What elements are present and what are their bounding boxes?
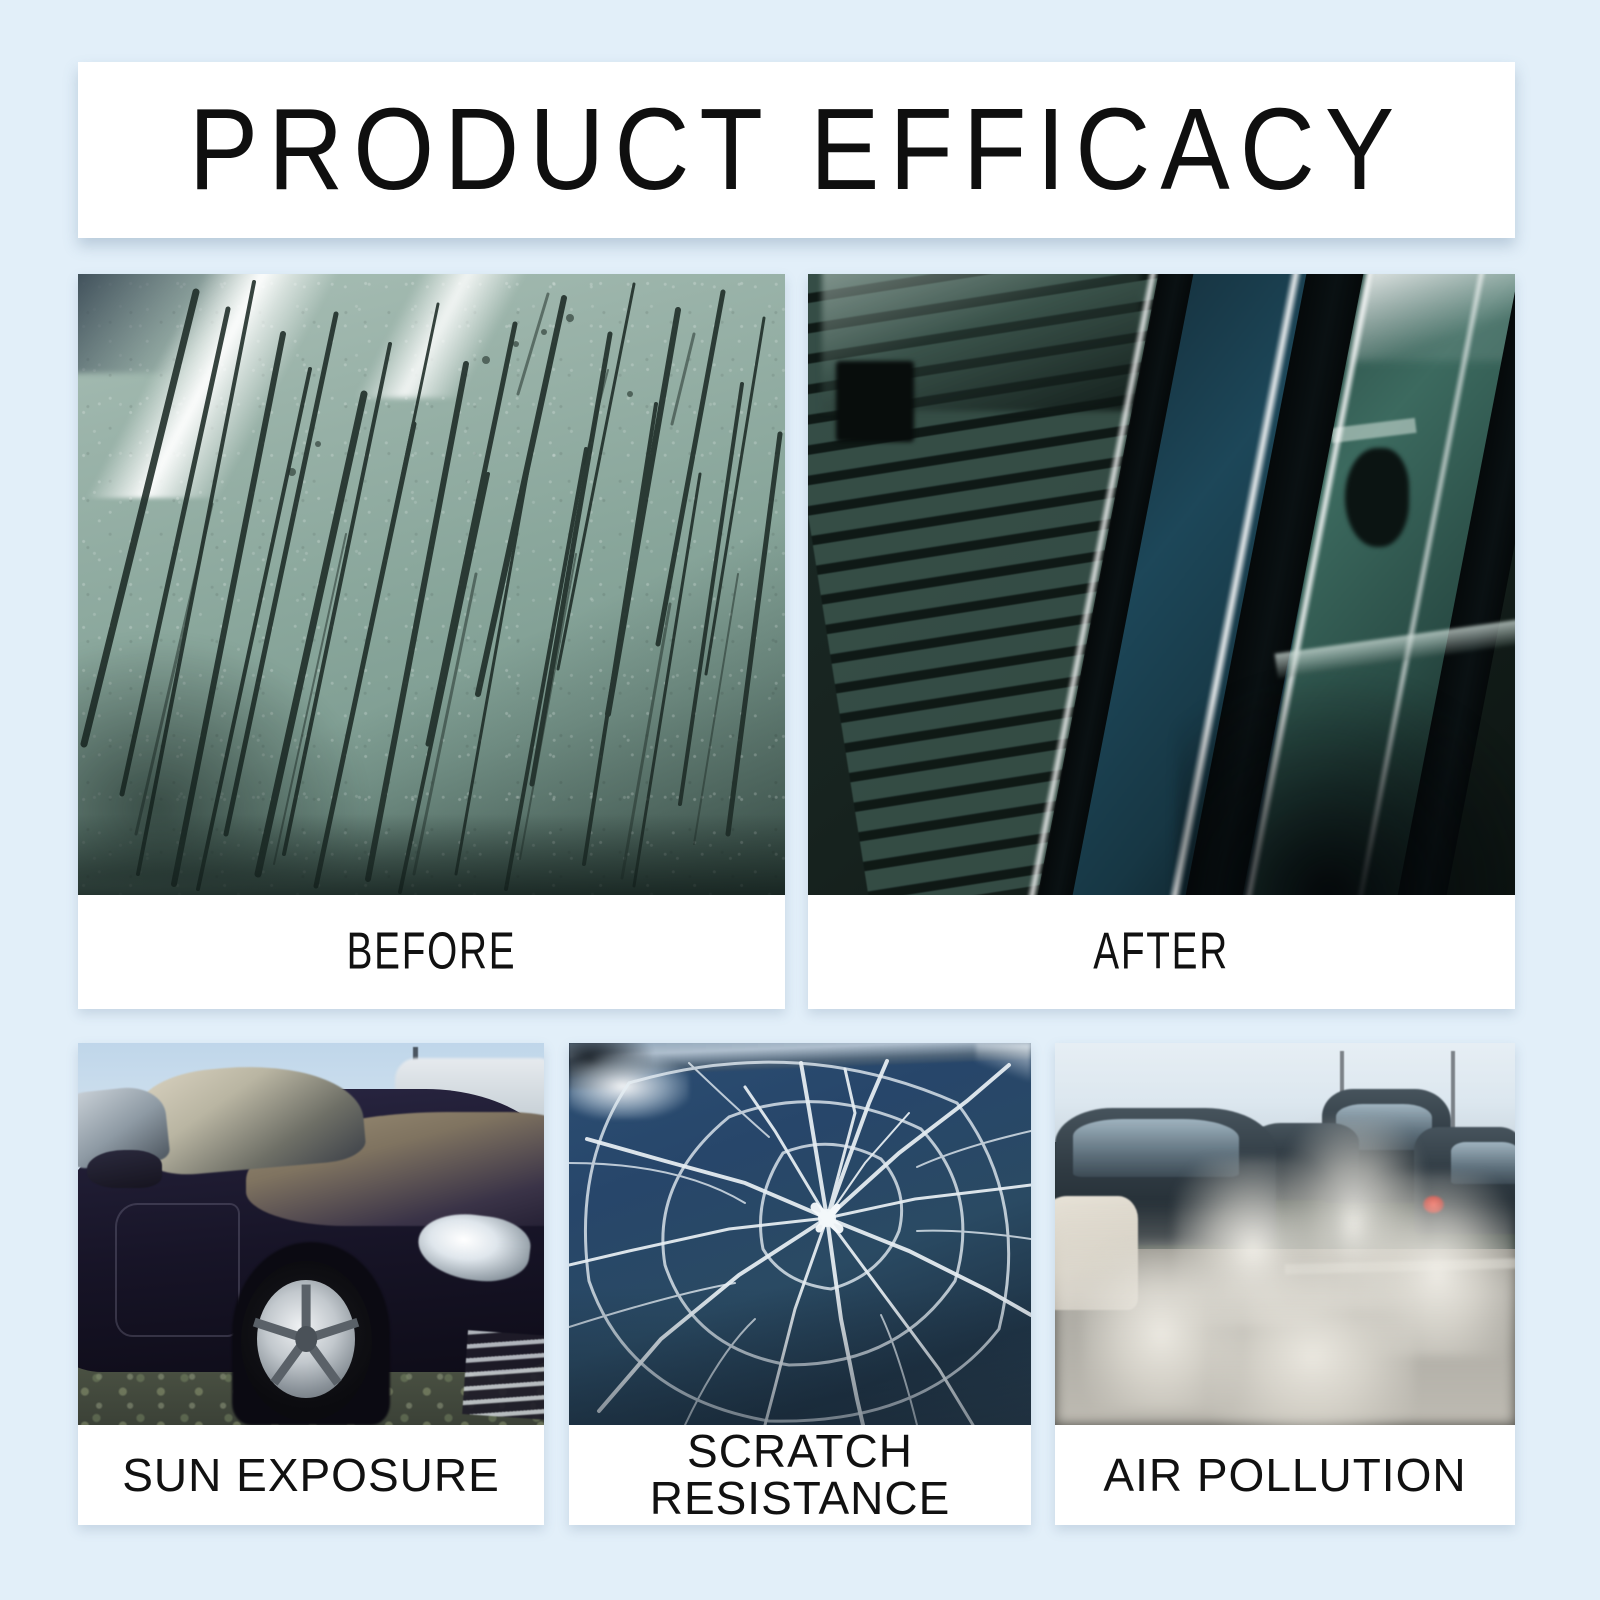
car-alloy-wheel [257,1280,355,1398]
car-front-grille [462,1331,544,1421]
page-title: PRODUCT EFFICACY [189,92,1405,208]
after-caption: AFTER [808,895,1515,1009]
infographic-canvas: PRODUCT EFFICACY [0,0,1600,1600]
scratched-windshield-photo [78,274,785,895]
cracked-windshield-photo [569,1043,1031,1425]
clean-car-window-photo [808,274,1515,895]
air-pollution-caption: AIR POLLUTION [1055,1425,1515,1525]
bottom-dark-band [78,814,785,895]
lower-dark-vignette [1176,671,1515,895]
traffic-exhaust-smoke-photo [1055,1043,1515,1425]
wheel-spoke [303,1336,342,1385]
caption-line-2: RESISTANCE [650,1472,951,1524]
lower-shade-gradient [569,1287,1031,1425]
sun-exposure-caption: SUN EXPOSURE [78,1425,544,1525]
dark-reflected-object [836,361,914,442]
dark-car-in-sunlight-photo [78,1043,544,1425]
before-caption: BEFORE [78,895,785,1009]
scratch-resistance-card: SCRATCH RESISTANCE [569,1043,1031,1525]
scratch-resistance-caption-label: SCRATCH RESISTANCE [650,1428,951,1522]
caption-line-1: SCRATCH [687,1425,913,1477]
air-pollution-caption-label: AIR POLLUTION [1103,1452,1466,1499]
before-caption-label: BEFORE [347,923,517,982]
car-side-mirror [87,1150,162,1188]
scratch-resistance-caption: SCRATCH RESISTANCE [569,1425,1031,1525]
utility-pole-right [1451,1051,1455,1135]
sun-exposure-card: SUN EXPOSURE [78,1043,544,1525]
after-caption-label: AFTER [1094,923,1230,982]
title-banner: PRODUCT EFFICACY [78,62,1515,238]
sun-exposure-caption-label: SUN EXPOSURE [122,1452,500,1499]
after-card: AFTER [808,274,1515,1009]
smoke-haze-overlay [1055,1203,1515,1425]
air-pollution-card: AIR POLLUTION [1055,1043,1515,1525]
wheel-spoke [305,1318,360,1343]
car-door-seam [115,1203,240,1337]
interior-dark-notch [1345,448,1409,547]
wheel-spoke [271,1336,310,1385]
wheel-spoke [302,1285,311,1339]
wheel-spoke [253,1318,308,1343]
before-card: BEFORE [78,274,785,1009]
